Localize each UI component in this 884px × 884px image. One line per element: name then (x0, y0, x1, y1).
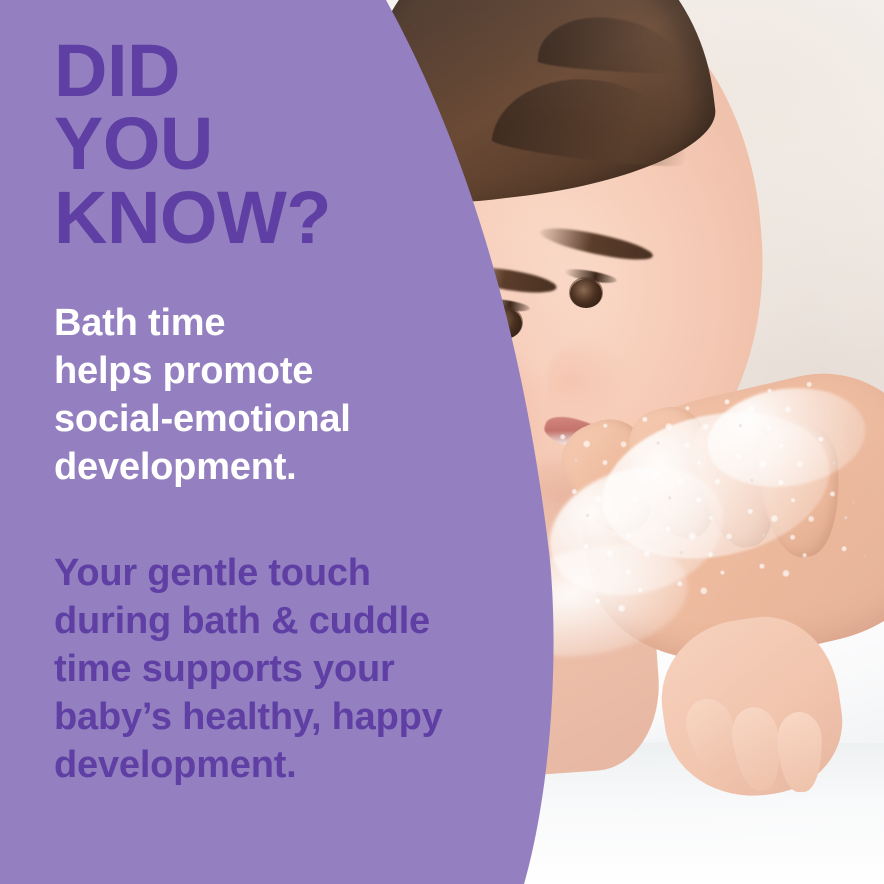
body-line-3: time supports your (54, 646, 534, 694)
headline-line-2: YOU (54, 107, 454, 180)
body-line-1: Your gentle touch (54, 550, 534, 598)
body-line-2: during bath & cuddle (54, 598, 534, 646)
infographic-canvas: DID YOU KNOW? Bath time helps promote so… (0, 0, 884, 884)
lede-line-2: helps promote (54, 348, 484, 396)
lede-paragraph: Bath time helps promote social-emotional… (54, 300, 484, 492)
body-line-4: baby’s healthy, happy (54, 694, 534, 742)
body-line-5: development. (54, 742, 534, 790)
headline-line-1: DID (54, 34, 454, 107)
headline-line-3: KNOW? (54, 181, 454, 254)
page-title: DID YOU KNOW? (54, 34, 454, 254)
lede-line-1: Bath time (54, 300, 484, 348)
lede-line-3: social-emotional (54, 396, 484, 444)
text-layer: DID YOU KNOW? Bath time helps promote so… (0, 0, 884, 884)
body-paragraph: Your gentle touch during bath & cuddle t… (54, 550, 534, 789)
lede-line-4: development. (54, 444, 484, 492)
